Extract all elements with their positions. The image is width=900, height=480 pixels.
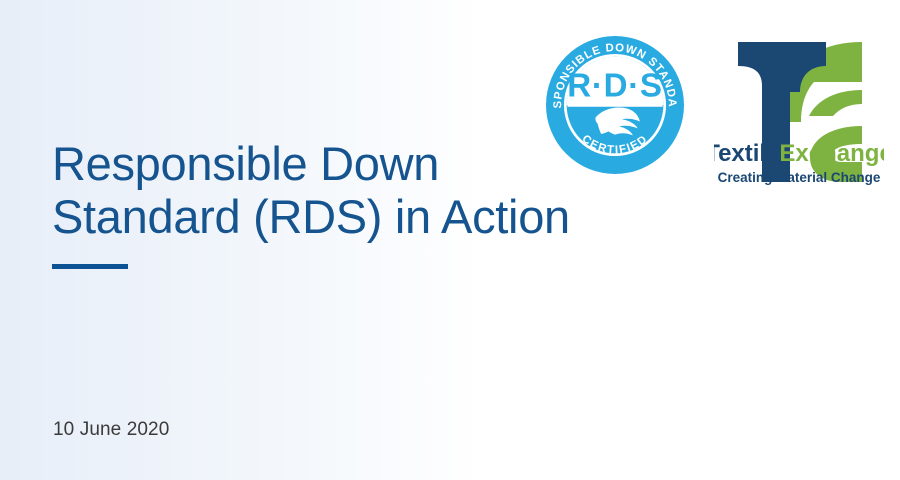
slide-date: 10 June 2020	[53, 419, 169, 441]
te-wordmark-textile: Textile	[714, 140, 779, 167]
presentation-slide: Responsible Down Standard (RDS) in Actio…	[0, 0, 900, 480]
rds-monogram-text: R·D·S	[567, 68, 662, 105]
rds-certified-badge-icon: R·D·S RESPONSIBLE DOWN STANDARD CERTIFIE…	[546, 36, 684, 174]
title-accent-rule	[52, 264, 128, 269]
logo-row: R·D·S RESPONSIBLE DOWN STANDARD CERTIFIE…	[546, 30, 886, 190]
page-title: Responsible Down Standard (RDS) in Actio…	[52, 137, 612, 243]
te-wordmark-exchange: Exchange	[779, 140, 884, 167]
textile-exchange-logo: Textile Exchange Creating Material Chang…	[714, 30, 884, 190]
title-block: Responsible Down Standard (RDS) in Actio…	[52, 137, 612, 269]
te-tagline: Creating Material Change	[718, 170, 881, 185]
